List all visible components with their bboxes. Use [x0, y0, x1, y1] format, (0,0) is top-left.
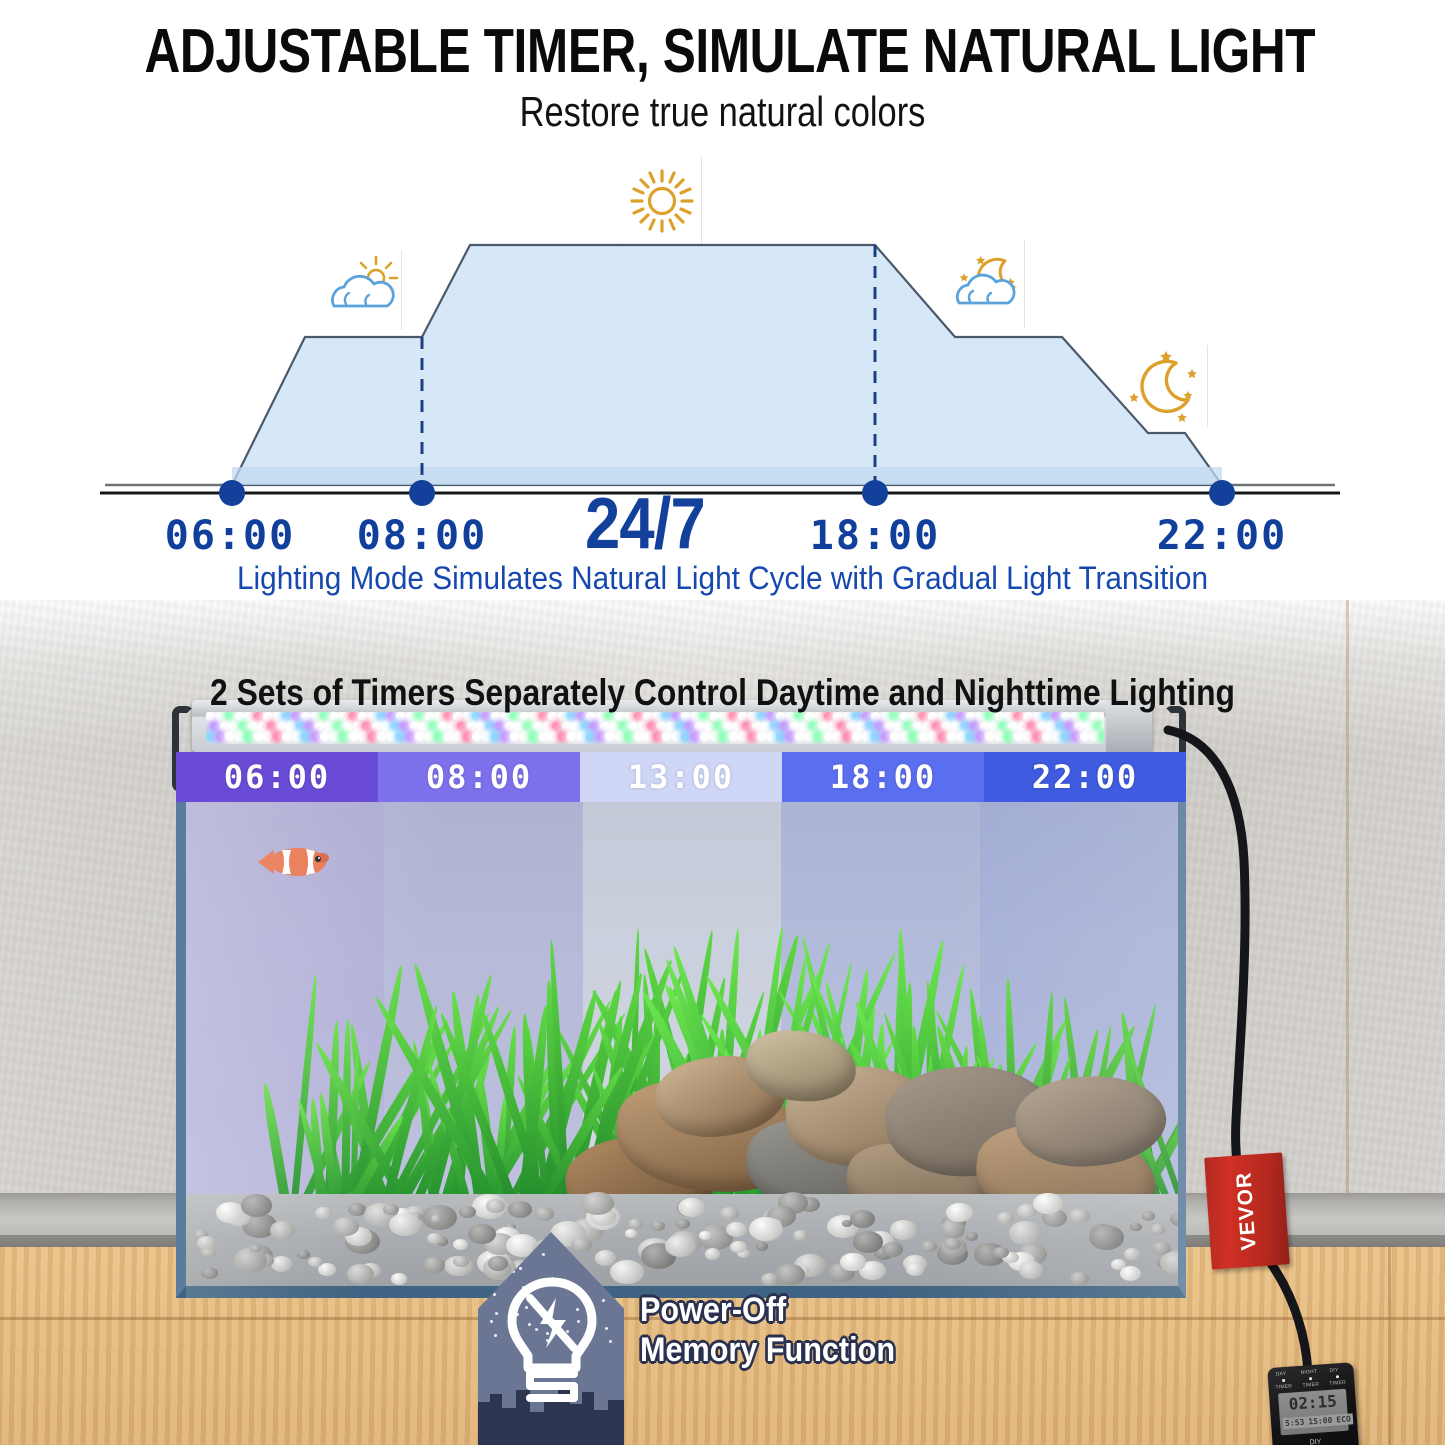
star-dot [490, 1264, 493, 1267]
led [875, 722, 884, 731]
led [339, 732, 348, 741]
pebble [890, 1220, 917, 1239]
led [467, 722, 476, 731]
pebble [853, 1231, 883, 1253]
pebble [427, 1233, 442, 1244]
led [999, 722, 1008, 731]
time-node-0800 [409, 480, 435, 506]
pebble [665, 1235, 696, 1258]
led [548, 732, 557, 741]
cabinet-seam-vertical [1388, 1247, 1391, 1445]
led [904, 722, 913, 731]
led [334, 722, 343, 731]
cloud-sun-icon [332, 257, 397, 306]
led [429, 722, 438, 731]
led [609, 722, 618, 731]
time-segment-0800: 08:00 [378, 752, 580, 802]
led [577, 732, 586, 741]
chart-title-247: 24/7 [585, 483, 705, 565]
led [305, 722, 314, 731]
led [995, 732, 1004, 741]
star-dot [604, 1270, 607, 1273]
led [710, 732, 719, 741]
led [615, 732, 624, 741]
lcd-cell-2: 15:00 [1306, 1415, 1335, 1428]
led [900, 732, 909, 741]
pebble [347, 1264, 374, 1283]
led [942, 722, 951, 731]
led [229, 722, 238, 731]
led [1027, 722, 1036, 731]
led [856, 722, 865, 731]
led [349, 732, 358, 741]
controller-led-day [1282, 1379, 1285, 1382]
time-segment-1300: 13:00 [580, 752, 782, 802]
pebble [705, 1248, 721, 1259]
bulb-no-power-icon [500, 1276, 604, 1406]
pebble [389, 1213, 421, 1236]
vevor-label: VEVOR [1232, 1171, 1261, 1251]
aquarium-glass [176, 752, 1186, 1298]
controller-lcd: 02:15 5:53 15:00 ECO [1278, 1389, 1349, 1436]
led [662, 732, 671, 741]
lcd-cell-1: 5:53 [1283, 1417, 1307, 1430]
led [1014, 732, 1023, 741]
led [771, 722, 780, 731]
led [1042, 732, 1051, 741]
led [220, 722, 229, 731]
led [852, 732, 861, 741]
led [410, 722, 419, 731]
led [809, 722, 818, 731]
led [400, 722, 409, 731]
star-dot [609, 1340, 612, 1343]
led [666, 722, 675, 731]
power-off-memory-badge [478, 1232, 624, 1445]
led [638, 722, 647, 731]
pebble [720, 1207, 739, 1220]
clownfish [248, 838, 336, 886]
pebble [1130, 1223, 1142, 1232]
controller-bottom-label: DIY [1272, 1436, 1358, 1445]
pebble [921, 1241, 936, 1252]
pebble [756, 1242, 768, 1251]
led-strip [206, 712, 1104, 744]
led [885, 722, 894, 731]
star-dot [542, 1253, 545, 1256]
led [286, 722, 295, 731]
led [871, 732, 880, 741]
led [847, 722, 856, 731]
led [970, 722, 979, 731]
led [881, 732, 890, 741]
led [938, 732, 947, 741]
pebble [508, 1201, 532, 1218]
tick-label-2200: 22:00 [1157, 513, 1287, 559]
controller-label-day: DAY [1275, 1371, 1286, 1378]
plant-blade [1179, 1110, 1186, 1223]
time-node-2200 [1209, 480, 1235, 506]
led [529, 732, 538, 741]
led [434, 732, 443, 741]
timer-color-strip: 06:00 08:00 13:00 18:00 22:00 [176, 752, 1186, 802]
led [453, 732, 462, 741]
led [524, 722, 533, 731]
led [672, 732, 681, 741]
led [543, 722, 552, 731]
led [533, 722, 542, 731]
led [391, 722, 400, 731]
led [843, 732, 852, 741]
controller-timer-day: TIMER [1275, 1383, 1292, 1390]
led [495, 722, 504, 731]
led [714, 722, 723, 731]
led [695, 722, 704, 731]
controller-label-night: NIGHT [1300, 1369, 1317, 1376]
pebble [678, 1198, 705, 1217]
led [273, 732, 282, 741]
wall-wood-panel [1230, 560, 1445, 1200]
led [501, 732, 510, 741]
led [928, 732, 937, 741]
led [239, 722, 248, 731]
led [776, 732, 785, 741]
time-node-0600 [219, 480, 245, 506]
led [514, 722, 523, 731]
tick-label-0600: 06:00 [165, 513, 295, 559]
led [1056, 722, 1065, 731]
led [263, 732, 272, 741]
led [824, 732, 833, 741]
led [311, 732, 320, 741]
led [216, 732, 225, 741]
led [590, 722, 599, 731]
time-node-1800 [862, 480, 888, 506]
section-heading: 2 Sets of Timers Separately Control Dayt… [101, 672, 1344, 714]
pebble [391, 1273, 408, 1285]
tick-label-0800: 08:00 [357, 513, 487, 559]
led [761, 722, 770, 731]
led [444, 732, 453, 741]
led [362, 722, 371, 731]
moon-stars-icon [1129, 351, 1197, 422]
star-dot [494, 1334, 497, 1337]
led [723, 722, 732, 731]
led [757, 732, 766, 741]
led [244, 732, 253, 741]
pebble [201, 1267, 217, 1279]
pebble [1089, 1225, 1124, 1250]
led [1103, 722, 1104, 731]
led [1061, 732, 1070, 741]
pebble [944, 1238, 961, 1250]
pebble [486, 1199, 504, 1212]
pebble [966, 1232, 978, 1241]
sun-icon [632, 171, 692, 231]
star-dot [583, 1263, 586, 1266]
led [505, 722, 514, 731]
pebble [271, 1256, 293, 1272]
controller-timer-night: TIMER [1302, 1382, 1319, 1389]
lcd-cell-3: ECO [1334, 1413, 1353, 1425]
led [520, 732, 529, 741]
led [600, 722, 609, 731]
led [748, 732, 757, 741]
led [1071, 732, 1080, 741]
led [919, 732, 928, 741]
pebble [250, 1245, 260, 1252]
page-subtitle: Restore true natural colors [130, 88, 1315, 136]
led [315, 722, 324, 731]
led [258, 722, 267, 731]
led [647, 722, 656, 731]
led [767, 732, 776, 741]
badge-line-1: Power-Off [640, 1290, 895, 1330]
led [961, 722, 970, 731]
led [657, 722, 666, 731]
led [980, 722, 989, 731]
led [396, 732, 405, 741]
time-segment-2200: 22:00 [984, 752, 1186, 802]
led [947, 732, 956, 741]
led [510, 732, 519, 741]
led [951, 722, 960, 731]
led [681, 732, 690, 741]
pebble [1019, 1261, 1043, 1279]
led [358, 732, 367, 741]
led [425, 732, 434, 741]
led [301, 732, 310, 741]
led [733, 722, 742, 731]
led [985, 732, 994, 741]
led [320, 732, 329, 741]
led [558, 732, 567, 741]
led [476, 722, 485, 731]
led [738, 732, 747, 741]
led [1075, 722, 1084, 731]
led [1018, 722, 1027, 731]
led [387, 732, 396, 741]
controller-timer-diy: TIMER [1329, 1380, 1346, 1387]
led [818, 722, 827, 731]
pebble [749, 1217, 783, 1241]
led [752, 722, 761, 731]
led [989, 722, 998, 731]
star-dot [524, 1252, 527, 1255]
led [643, 732, 652, 741]
vevor-brand-tag: VEVOR [1204, 1152, 1290, 1269]
led [1023, 732, 1032, 741]
led [419, 722, 428, 731]
led [267, 722, 276, 731]
pebble [699, 1231, 711, 1240]
led [415, 732, 424, 741]
badge-line-2: Memory Function [640, 1330, 895, 1370]
led [634, 732, 643, 741]
led [691, 732, 700, 741]
tick-label-1800: 18:00 [810, 513, 940, 559]
led [923, 722, 932, 731]
pebble [453, 1239, 468, 1250]
chart-caption: Lighting Mode Simulates Natural Light Cy… [51, 560, 1395, 597]
controller-led-diy [1336, 1375, 1339, 1378]
led [282, 732, 291, 741]
led [248, 722, 257, 731]
led [1052, 732, 1061, 741]
led [862, 732, 871, 741]
led [866, 722, 875, 731]
pebble [850, 1210, 875, 1228]
pebble [1009, 1221, 1042, 1245]
star-dot [494, 1258, 497, 1261]
led [457, 722, 466, 731]
pebble [241, 1194, 273, 1217]
star-dot [514, 1255, 517, 1258]
led [932, 722, 941, 731]
led [225, 732, 234, 741]
badge-text: Power-Off Memory Function [640, 1290, 895, 1370]
led [780, 722, 789, 731]
led [353, 722, 362, 731]
wood-seam [1346, 560, 1349, 1200]
led [966, 732, 975, 741]
led [976, 732, 985, 741]
led [685, 722, 694, 731]
led [605, 732, 614, 741]
led [296, 722, 305, 731]
led [562, 722, 571, 731]
page-title: ADJUSTABLE TIMER, SIMULATE NATURAL LIGHT [145, 16, 1301, 87]
led [957, 732, 966, 741]
led [1099, 732, 1104, 741]
pebble [1170, 1212, 1186, 1226]
led [368, 732, 377, 741]
star-dot [488, 1288, 491, 1291]
star-dot [519, 1267, 522, 1270]
pebble [676, 1219, 690, 1229]
timer-controller[interactable]: DAY NIGHT DIY TIMER TIMER TIMER 02:15 5:… [1267, 1362, 1363, 1445]
led [799, 722, 808, 731]
led [438, 722, 447, 731]
led [833, 732, 842, 741]
light-cycle-chart: 24/7 06:00 08:00 18:00 22:00 Lighting Mo… [0, 145, 1445, 600]
pebble [431, 1215, 441, 1222]
controller-label-diy: DIY [1329, 1367, 1338, 1374]
led [653, 732, 662, 741]
led [814, 732, 823, 741]
led [1094, 722, 1103, 731]
pebble [581, 1192, 614, 1216]
led [837, 722, 846, 731]
led [210, 722, 219, 731]
lcd-sub-row: 5:53 15:00 ECO [1283, 1414, 1346, 1429]
led [277, 722, 286, 731]
led [1033, 732, 1042, 741]
aquarium: 06:00 08:00 13:00 18:00 22:00 [176, 700, 1186, 1355]
led [742, 722, 751, 731]
pebble [940, 1220, 965, 1238]
led [596, 732, 605, 741]
led [581, 722, 590, 731]
pebble [453, 1256, 469, 1267]
led [235, 732, 244, 741]
led [624, 732, 633, 741]
star-dot [490, 1320, 493, 1323]
led [909, 732, 918, 741]
pebble [423, 1257, 445, 1273]
star-dot [591, 1269, 594, 1272]
led [567, 732, 576, 741]
led [1090, 732, 1099, 741]
led [491, 732, 500, 741]
led [406, 732, 415, 741]
pebble [625, 1229, 637, 1237]
led [372, 722, 381, 731]
header: ADJUSTABLE TIMER, SIMULATE NATURAL LIGHT… [0, 0, 1445, 145]
led [1080, 732, 1089, 741]
cloud-moon-icon [957, 256, 1015, 303]
led [1037, 722, 1046, 731]
pebble [761, 1273, 779, 1286]
led [472, 732, 481, 741]
led [486, 722, 495, 731]
led [343, 722, 352, 731]
led [539, 732, 548, 741]
led [729, 732, 738, 741]
led [1008, 722, 1017, 731]
led [571, 722, 580, 731]
led [324, 722, 333, 731]
led [890, 732, 899, 741]
led [292, 732, 301, 741]
led [786, 732, 795, 741]
pebble [1033, 1193, 1062, 1214]
pebble [1151, 1224, 1165, 1234]
controller-led-night [1309, 1377, 1312, 1380]
led [1084, 722, 1093, 731]
pebble [840, 1253, 866, 1271]
star-dot [605, 1327, 608, 1330]
led [795, 732, 804, 741]
pebble [333, 1217, 359, 1236]
pebble [270, 1221, 295, 1239]
led [552, 722, 561, 731]
star-dot [495, 1312, 498, 1315]
led [1046, 722, 1055, 731]
led [448, 722, 457, 731]
led [894, 722, 903, 731]
led [377, 732, 386, 741]
led [913, 722, 922, 731]
led [719, 732, 728, 741]
pebble [308, 1257, 323, 1267]
pebble [233, 1248, 267, 1273]
led [676, 722, 685, 731]
time-segment-1800: 18:00 [782, 752, 984, 802]
led [381, 722, 390, 731]
led [330, 732, 339, 741]
led [1004, 732, 1013, 741]
star-dot [515, 1261, 518, 1264]
star-dot [512, 1270, 515, 1273]
led [586, 732, 595, 741]
led [700, 732, 709, 741]
led [463, 732, 472, 741]
led [1065, 722, 1074, 731]
star-dot [493, 1293, 496, 1296]
led [206, 732, 215, 741]
time-segment-0600: 06:00 [176, 752, 378, 802]
